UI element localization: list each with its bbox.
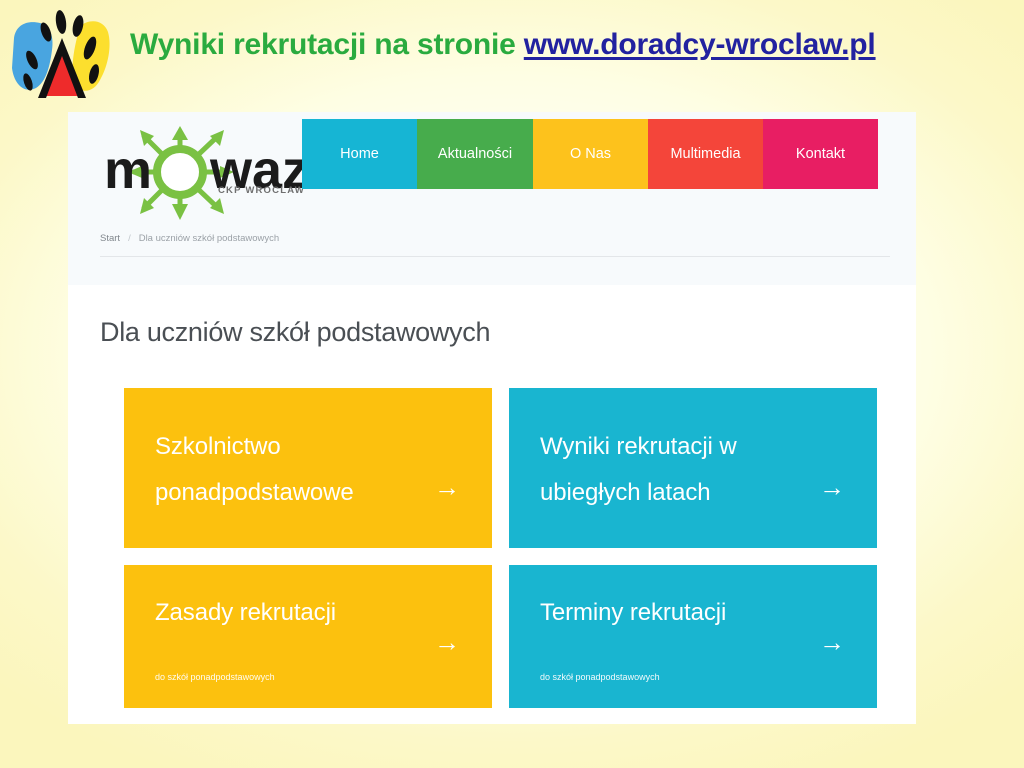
breadcrumb-home[interactable]: Start [100,233,120,244]
tile-title: Wyniki rekrutacji w ubiegłych latach [540,424,809,515]
slide-title-prefix: Wyniki rekrutacji na stronie [130,28,524,61]
brand-subtitle: CKP WROCLAW [218,185,305,196]
page-title: Dla uczniów szkół podstawowych [100,317,490,348]
tile-zasady-rekrutacji[interactable]: Zasady rekrutacji do szkół ponadpodstawo… [124,565,492,708]
tile-title: Zasady rekrutacji [155,601,424,625]
nav-item-o-nas[interactable]: O Nas [533,119,648,189]
breadcrumb-separator: / [128,233,131,244]
mowaz-logo-icon: m waz [100,122,310,222]
svg-text:m: m [104,140,152,200]
slide-title-url-link[interactable]: www.doradcy-wroclaw.pl [524,28,876,61]
tile-terminy-rekrutacji[interactable]: Terminy rekrutacji do szkół ponadpodstaw… [509,565,877,708]
nav-item-multimedia[interactable]: Multimedia [648,119,763,189]
arrow-right-icon: → [434,474,460,500]
site-body: Dla uczniów szkół podstawowych Szkolnict… [68,285,916,724]
website-screenshot: m waz CKP WROCLAW Home Aktualności O Nas… [68,112,916,724]
breadcrumb: Start / Dla uczniów szkół podstawowych [100,233,279,244]
abstract-figure-logo-icon [6,4,124,104]
tile-subtitle: do szkół ponadpodstawowych [155,672,275,682]
arrow-right-icon: → [819,629,845,655]
site-header: m waz CKP WROCLAW Home Aktualności O Nas… [68,112,916,285]
breadcrumb-divider [100,256,890,257]
tile-wyniki-rekrutacji-w-ubieglych-latach[interactable]: Wyniki rekrutacji w ubiegłych latach → [509,388,877,548]
tile-title: Terminy rekrutacji [540,601,809,625]
tile-grid: Szkolnictwo ponadpodstawowe → Wyniki rek… [124,388,884,708]
breadcrumb-current: Dla uczniów szkół podstawowych [139,233,279,244]
tile-subtitle: do szkół ponadpodstawowych [540,672,660,682]
nav-item-kontakt[interactable]: Kontakt [763,119,878,189]
nav-item-home[interactable]: Home [302,119,417,189]
site-nav: Home Aktualności O Nas Multimedia Kontak… [302,119,878,189]
arrow-right-icon: → [434,629,460,655]
nav-item-aktualnosci[interactable]: Aktualności [417,119,533,189]
slide: Wyniki rekrutacji na stronie www.doradcy… [0,0,1024,768]
tile-title: Szkolnictwo ponadpodstawowe [155,424,424,515]
tile-szkolnictwo-ponadpodstawowe[interactable]: Szkolnictwo ponadpodstawowe → [124,388,492,548]
arrow-right-icon: → [819,474,845,500]
slide-title: Wyniki rekrutacji na stronie www.doradcy… [130,28,1010,62]
site-brand[interactable]: m waz CKP WROCLAW [100,122,310,222]
